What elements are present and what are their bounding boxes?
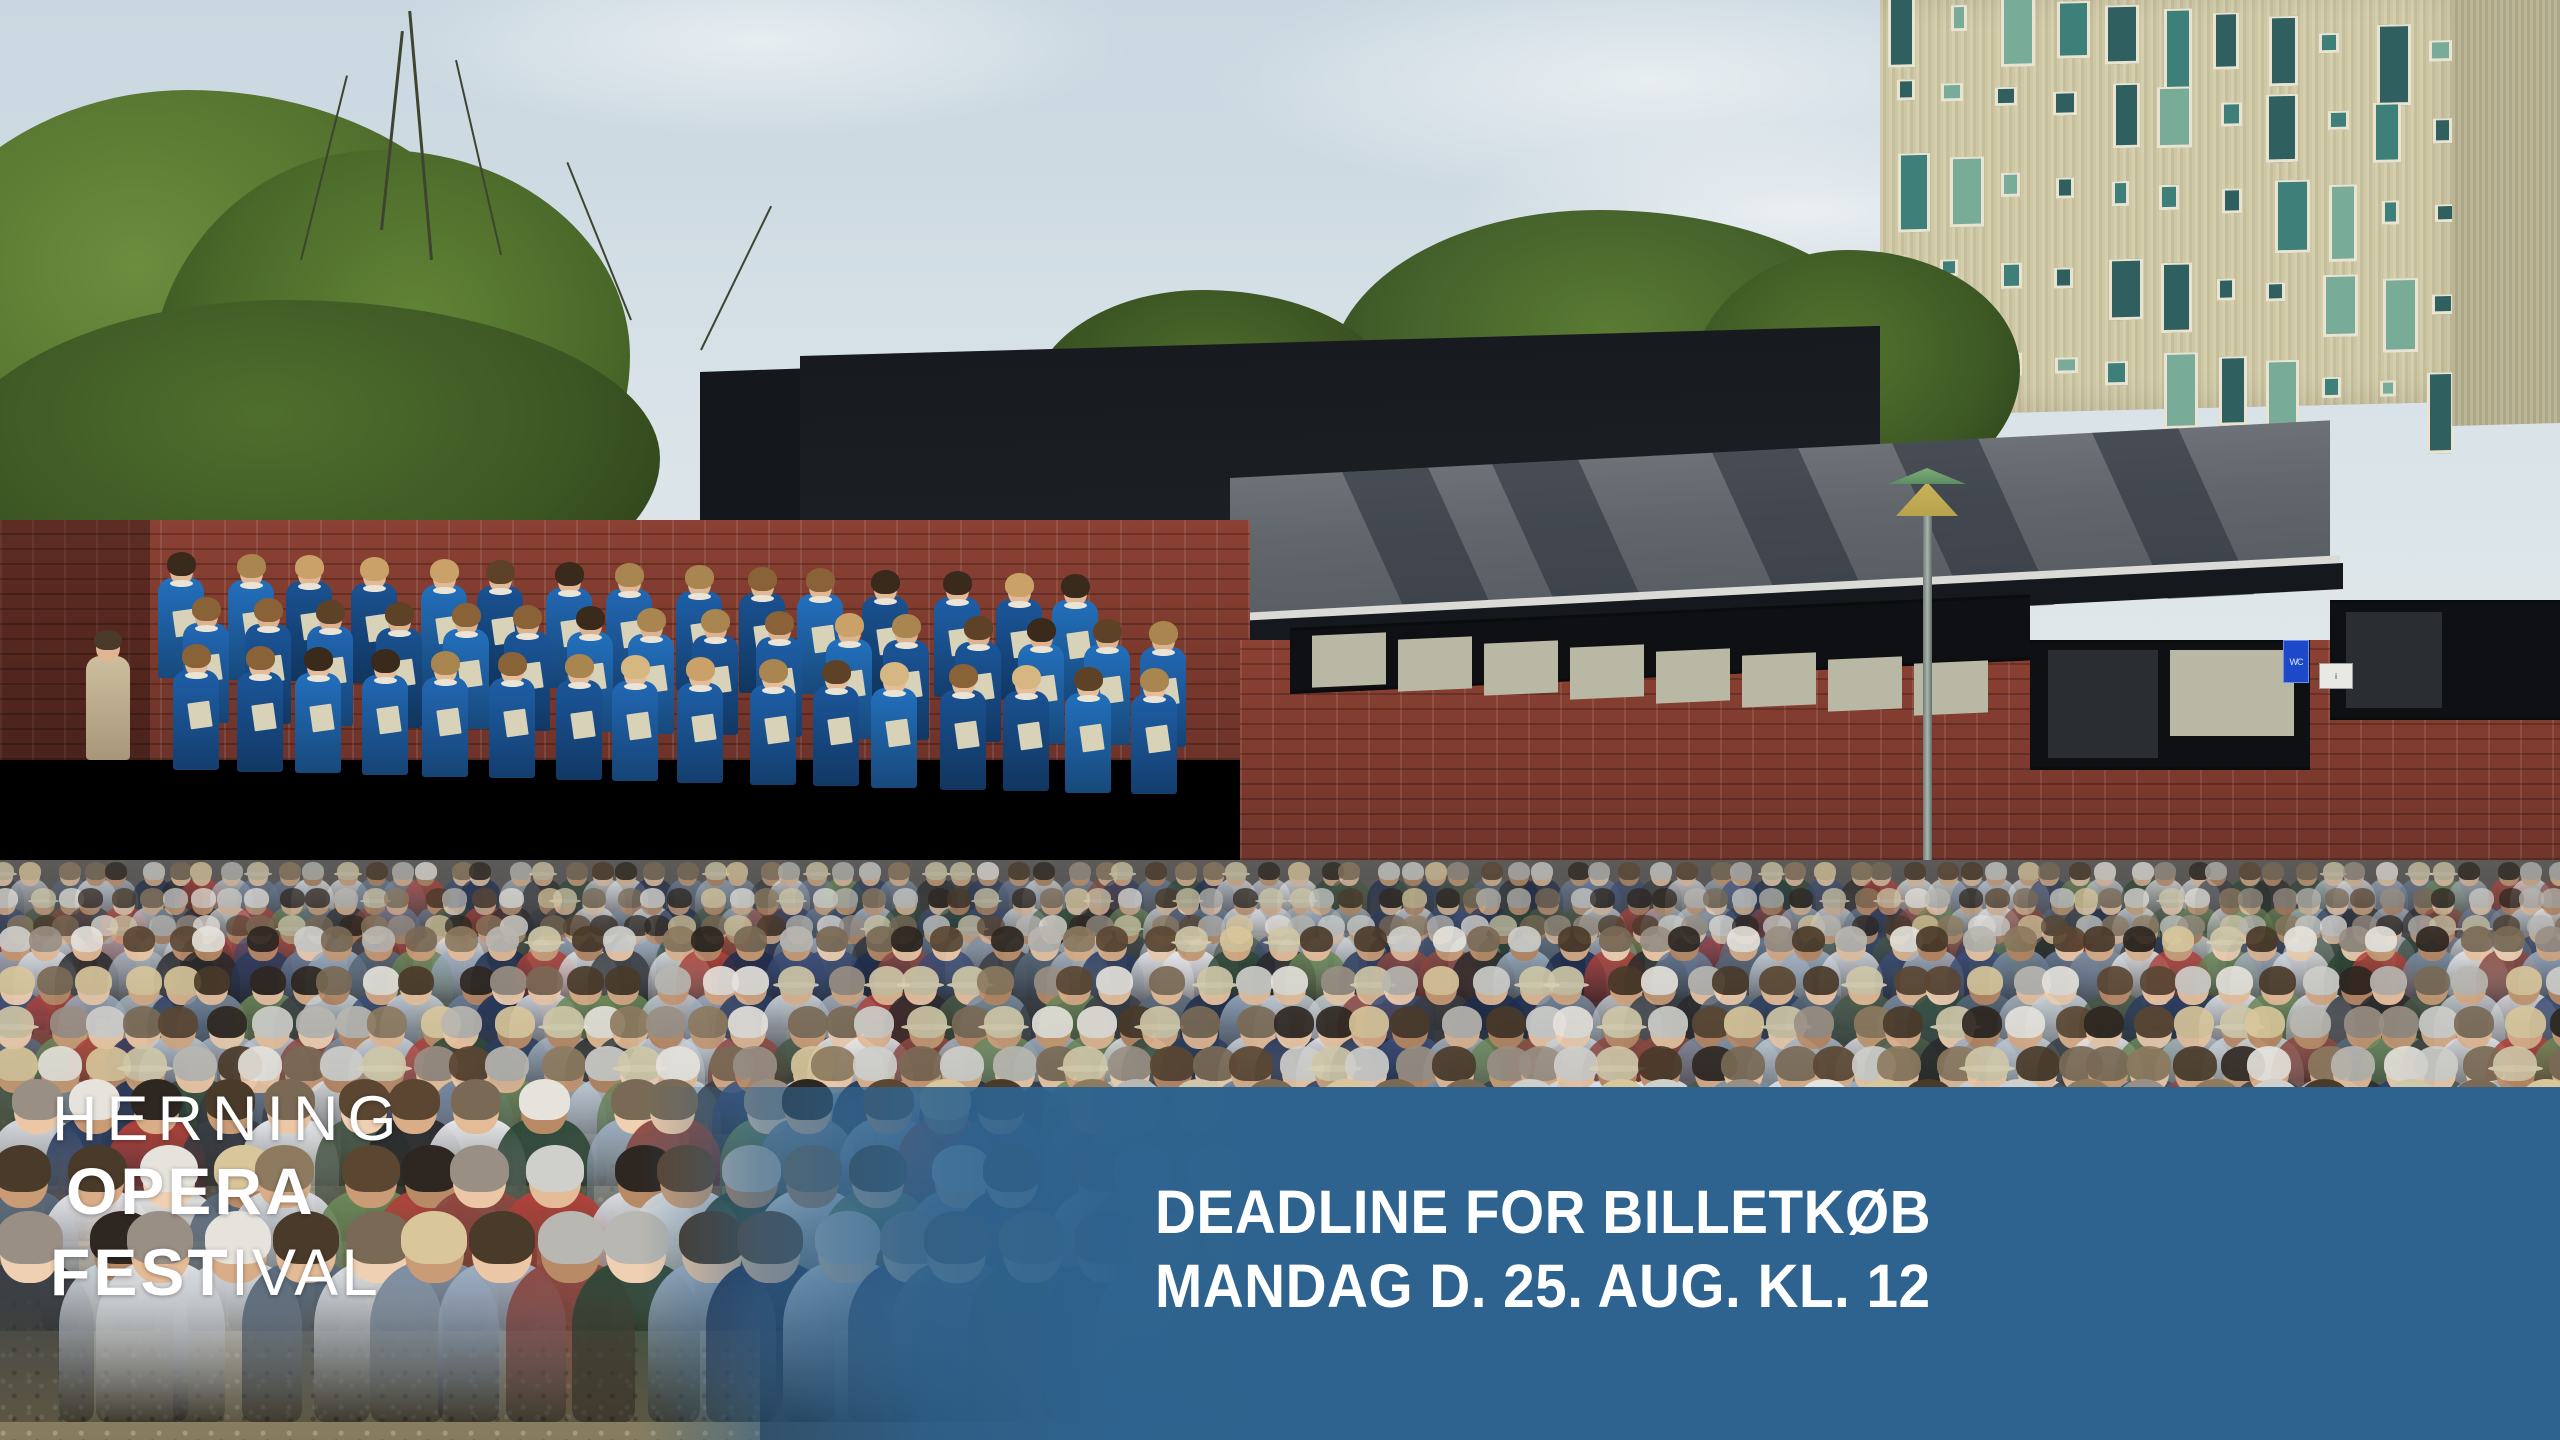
audience-hair: [499, 888, 524, 908]
audience-hair: [123, 926, 156, 952]
audience-hair: [71, 926, 104, 952]
audience-hair: [1730, 862, 1752, 880]
audience-hair: [2535, 926, 2560, 952]
audience-hat-brim: [1222, 872, 1250, 875]
logo-festival-thin: IVAL: [231, 1235, 381, 1309]
audience-hat-brim: [529, 872, 557, 875]
audience-hair: [1338, 888, 1363, 908]
audience-hair: [1531, 862, 1553, 880]
audience-hair: [244, 888, 269, 908]
audience-hair: [605, 966, 641, 995]
audience-hair: [1096, 926, 1129, 952]
audience-hair: [1220, 926, 1253, 952]
audience-hair: [2451, 966, 2487, 995]
audience-hair: [1784, 862, 1806, 880]
audience-hair: [2549, 862, 2560, 880]
audience-hair: [2284, 926, 2317, 952]
audience-hair: [1118, 888, 1143, 908]
audience-hair: [1904, 862, 1926, 880]
audience-hair: [75, 966, 111, 995]
audience-hat-brim: [1543, 982, 1589, 988]
logo-festival-bold: FEST: [50, 1235, 231, 1309]
audience-hair: [398, 966, 434, 995]
audience-hair: [415, 862, 437, 880]
audience-hair: [1199, 888, 1224, 908]
audience-hair: [1338, 862, 1360, 880]
audience-hair: [384, 888, 409, 908]
audience-hair: [2262, 862, 2284, 880]
audience-hair: [603, 926, 636, 952]
audience-hair: [977, 862, 999, 880]
audience-hair: [2238, 888, 2263, 908]
audience-hair: [888, 862, 910, 880]
audience-hair: [1508, 926, 1541, 952]
audience-hair: [1423, 966, 1459, 995]
audience-hair: [302, 862, 324, 880]
audience-hair: [1447, 862, 1469, 880]
audience-hair: [667, 888, 692, 908]
audience-hair: [1300, 926, 1333, 952]
audience-hair: [726, 862, 748, 880]
audience-hair: [1814, 862, 1836, 880]
audience-hair: [1794, 1006, 1834, 1038]
audience-hair: [1388, 926, 1421, 952]
audience-hair: [1288, 862, 1310, 880]
banner-line-1: DEADLINE FOR BILLETKØB: [1155, 1175, 1931, 1249]
audience-hair: [2416, 926, 2449, 952]
audience-hair: [2154, 862, 2176, 880]
audience-hair: [643, 862, 665, 880]
audience-hair: [2376, 862, 2398, 880]
audience-hair: [2365, 926, 2398, 952]
audience-hair: [2004, 926, 2037, 952]
audience-hair: [1916, 926, 1949, 952]
audience-hair: [1180, 1006, 1220, 1038]
audience-hair: [1985, 862, 2007, 880]
audience-hair: [734, 926, 767, 952]
audience-hair: [105, 862, 127, 880]
audience-hair: [1175, 926, 1208, 952]
audience-hair: [1535, 888, 1560, 908]
audience-hair: [930, 926, 963, 952]
audience-hair: [779, 888, 804, 908]
logo-line-festival: FESTIVAL: [48, 1232, 478, 1313]
logo-line-opera: OPERA: [48, 1151, 478, 1232]
audience-hair: [2205, 862, 2227, 880]
audience-hair: [2038, 862, 2060, 880]
festival-logo: HERNING OPERA FESTIVAL: [48, 1088, 478, 1312]
audience-hair: [2541, 888, 2560, 908]
audience-hair: [816, 926, 849, 952]
audience-hair: [893, 888, 918, 908]
audience-hair: [1668, 926, 1701, 952]
event-poster: WC i DEADLINE FOR BILLETKØB MANDAG D. 25…: [0, 0, 2560, 1440]
audience-hair: [2094, 862, 2116, 880]
audience-hair: [0, 1006, 34, 1038]
audience-hair: [1548, 966, 1584, 995]
audience-hair: [194, 966, 230, 995]
audience-hair: [582, 888, 607, 908]
audience-hair: [974, 888, 999, 908]
audience-hair: [728, 1006, 768, 1038]
audience-hair: [247, 926, 280, 952]
audience-hair: [2042, 966, 2078, 995]
audience-hat-brim: [1109, 872, 1137, 875]
audience-hair: [1877, 1046, 1921, 1081]
audience-hair: [1033, 862, 1055, 880]
audience-hair: [1835, 926, 1868, 952]
audience-hair: [78, 888, 103, 908]
audience-hair: [2162, 926, 2195, 952]
audience-hair: [1096, 966, 1132, 995]
audience-hair: [778, 966, 814, 995]
audience-hair: [469, 862, 491, 880]
audience-hair: [1271, 966, 1307, 995]
banner-line-2: MANDAG D. 25. AUG. KL. 12: [1155, 1249, 1931, 1323]
audience-hair: [2013, 888, 2038, 908]
banner-text: DEADLINE FOR BILLETKØB MANDAG D. 25. AUG…: [1155, 1175, 1931, 1324]
audience-hair: [1676, 862, 1698, 880]
audience-hair: [2458, 862, 2480, 880]
audience-hair: [192, 926, 225, 952]
audience-hair: [19, 862, 41, 880]
audience-hair: [977, 966, 1013, 995]
audience-hair: [2124, 888, 2149, 908]
audience-hair: [1618, 862, 1640, 880]
audience-hair: [1870, 862, 1892, 880]
audience-hair: [2343, 862, 2365, 880]
audience-hair: [902, 966, 938, 995]
audience-hair: [0, 888, 18, 908]
audience-hair: [2431, 888, 2456, 908]
audience-hair: [2247, 1046, 2291, 1081]
audience-hair: [1590, 888, 1615, 908]
audience-hair: [2546, 966, 2560, 995]
logo-line-herning: HERNING: [48, 1088, 478, 1151]
